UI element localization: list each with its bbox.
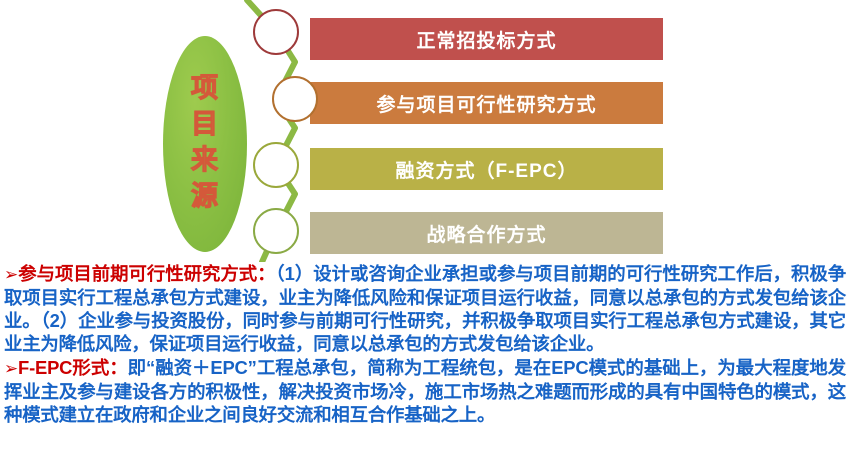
diagram-bar-normal-bidding[interactable]: 正常招投标方式 bbox=[310, 18, 663, 60]
node-circle-1[interactable] bbox=[253, 9, 299, 55]
bar-label-1: 正常招投标方式 bbox=[416, 26, 556, 53]
ellipse-char-1: 项 bbox=[163, 70, 247, 106]
ellipse-char-3: 来 bbox=[163, 142, 247, 178]
bar-label-3: 融资方式（F-EPC） bbox=[395, 156, 577, 183]
paragraph-2-body: 即“融资＋EPC”工程总承包，简称为工程统包，是在EPC模式的基础上，为最大程度… bbox=[4, 357, 846, 425]
ellipse-char-4: 源 bbox=[163, 178, 247, 214]
paragraph-feasibility-study: ➢参与项目前期可行性研究方式：（1）设计或咨询企业承担或参与项目前期的可行性研究… bbox=[4, 262, 846, 355]
bar-label-4: 战略合作方式 bbox=[426, 220, 546, 247]
slide-canvas: 项 目 来 源 正常招投标方式 参与项目可行性研究方式 融资方式（F-EPC） … bbox=[0, 0, 850, 473]
bullet-arrow-icon: ➢ bbox=[4, 265, 18, 284]
node-circle-3[interactable] bbox=[253, 142, 299, 188]
body-text-block: ➢参与项目前期可行性研究方式：（1）设计或咨询企业承担或参与项目前期的可行性研究… bbox=[0, 260, 850, 473]
project-source-diagram: 项 目 来 源 正常招投标方式 参与项目可行性研究方式 融资方式（F-EPC） … bbox=[0, 0, 850, 262]
paragraph-fepc: ➢F-EPC形式：即“融资＋EPC”工程总承包，简称为工程统包，是在EPC模式的… bbox=[4, 356, 846, 426]
node-circle-4[interactable] bbox=[253, 208, 299, 254]
paragraph-1-heading: 参与项目前期可行性研究方式： bbox=[18, 263, 275, 284]
bar-label-2: 参与项目可行性研究方式 bbox=[376, 90, 596, 117]
project-source-ellipse: 项 目 来 源 bbox=[163, 36, 247, 252]
ellipse-char-2: 目 bbox=[163, 106, 247, 142]
diagram-bar-financing-fepc[interactable]: 融资方式（F-EPC） bbox=[310, 148, 663, 190]
diagram-bar-strategic-cooperation[interactable]: 战略合作方式 bbox=[310, 212, 663, 254]
node-circle-2[interactable] bbox=[272, 76, 318, 122]
project-source-label: 项 目 来 源 bbox=[163, 70, 247, 214]
paragraph-2-heading: F-EPC形式： bbox=[18, 357, 128, 378]
bullet-arrow-icon: ➢ bbox=[4, 359, 18, 378]
diagram-bar-feasibility-study[interactable]: 参与项目可行性研究方式 bbox=[310, 82, 663, 124]
